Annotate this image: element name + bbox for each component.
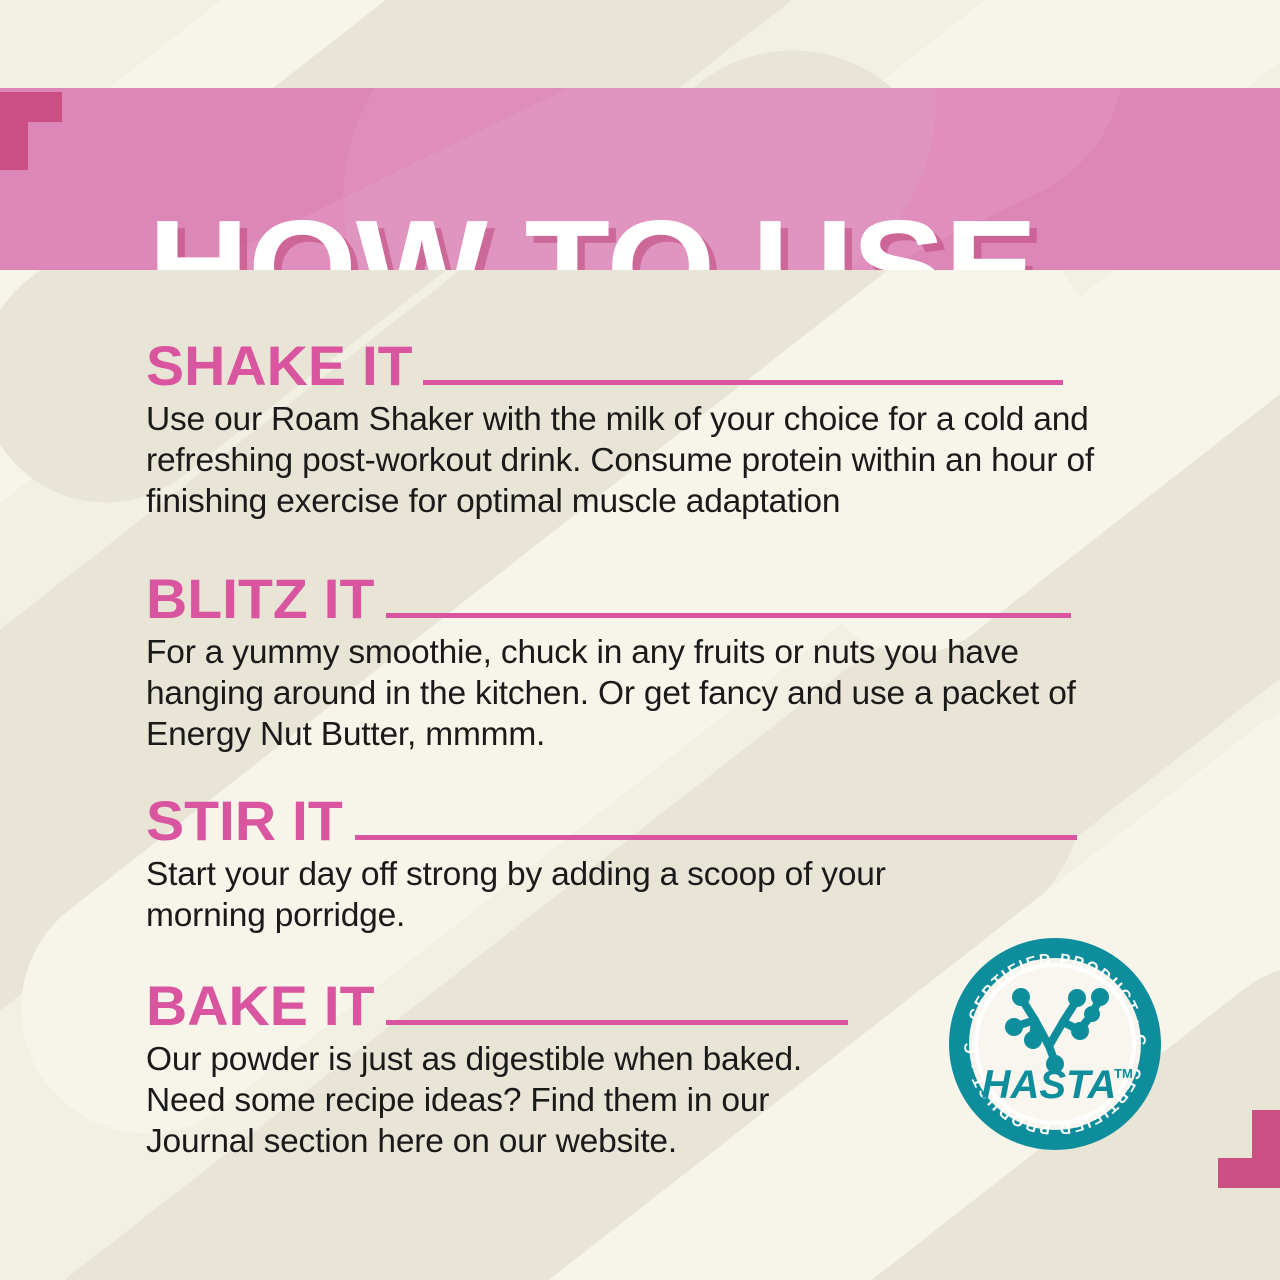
section-stir-it: STIR IT Start your day off strong by add…	[0, 795, 1280, 936]
section-body: Our powder is just as digestible when ba…	[146, 1039, 876, 1162]
badge-trademark: TM	[1114, 1066, 1133, 1081]
section-title: STIR IT	[146, 795, 343, 847]
badge-wordmark: HASTA	[982, 1063, 1117, 1107]
section-title: BLITZ IT	[146, 573, 374, 625]
section-header: BLITZ IT	[146, 573, 1280, 625]
banner-corner-top-left-vertical	[0, 92, 28, 170]
section-body: For a yummy smoothie, chuck in any fruit…	[146, 632, 1106, 755]
section-divider-rule	[386, 1020, 848, 1025]
section-body: Use our Roam Shaker with the milk of you…	[146, 399, 1106, 522]
section-divider-rule	[386, 613, 1071, 618]
header-banner: HOW TO USE	[0, 88, 1280, 270]
section-body-text: Our powder is just as digestible when ba…	[146, 1039, 876, 1162]
section-header: STIR IT	[146, 795, 1280, 847]
poster-root: HOW TO USE SHAKE IT Use our Roam Shaker …	[0, 0, 1280, 1280]
section-shake-it: SHAKE IT Use our Roam Shaker with the mi…	[0, 340, 1280, 522]
section-title: SHAKE IT	[146, 340, 413, 392]
section-body-text: Use our Roam Shaker with the milk of you…	[146, 399, 1106, 522]
section-divider-rule	[355, 835, 1077, 840]
section-divider-rule	[423, 380, 1063, 385]
section-body: Start your day off strong by adding a sc…	[146, 854, 946, 936]
section-blitz-it: BLITZ IT For a yummy smoothie, chuck in …	[0, 573, 1280, 755]
section-body-text: For a yummy smoothie, chuck in any fruit…	[146, 632, 1106, 755]
section-body-text: Start your day off strong by adding a sc…	[146, 854, 946, 936]
hasta-certified-badge: CERTIFIED PRODUCT · CERTIFIED PRODUCT CE…	[949, 938, 1161, 1150]
section-header: SHAKE IT	[146, 340, 1280, 392]
page-title: HOW TO USE	[148, 201, 1037, 270]
section-title: BAKE IT	[146, 980, 374, 1032]
